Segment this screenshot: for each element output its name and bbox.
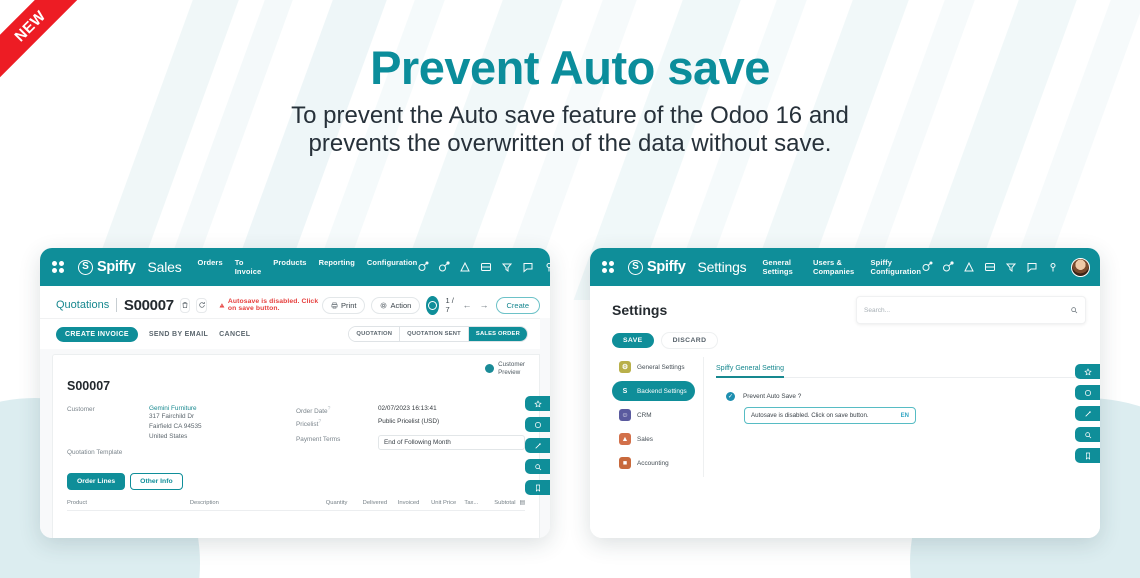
spiffy-mark-icon bbox=[78, 260, 93, 275]
create-invoice-button[interactable]: CREATE INVOICE bbox=[56, 327, 138, 342]
field-payment-terms-label: Payment Terms bbox=[296, 435, 378, 443]
col-unit-price: Unit Price bbox=[431, 500, 464, 506]
brand-name: Spiffy bbox=[97, 259, 135, 275]
autosave-warning-text: Autosave is disabled. Click on save butt… bbox=[228, 298, 322, 312]
rail-star-icon[interactable] bbox=[525, 396, 550, 411]
spiffy-app-icon: S bbox=[619, 385, 631, 397]
menu-item-general-settings[interactable]: General Settings bbox=[762, 258, 800, 276]
odoo-topbar-sales: Spiffy Sales Orders To Invoice Products … bbox=[40, 248, 550, 286]
brand-logo[interactable]: Spiffy bbox=[628, 259, 685, 275]
col-description: Description bbox=[190, 500, 326, 506]
field-quotation-template-label: Quotation Template bbox=[67, 448, 149, 456]
poster-canvas: NEW Prevent Auto save To prevent the Aut… bbox=[0, 0, 1140, 578]
menu-item-orders[interactable]: Orders bbox=[198, 258, 223, 276]
menu-item-products[interactable]: Products bbox=[273, 258, 306, 276]
notebook-tabs: Order Lines Other Info bbox=[67, 473, 525, 490]
right-window-rail bbox=[1075, 364, 1100, 463]
sidebar-label-crm: CRM bbox=[637, 412, 652, 419]
field-order-date: Order Date? 02/07/2023 16:13:41 bbox=[296, 405, 525, 415]
autosave-message-input[interactable]: Autosave is disabled. Click on save butt… bbox=[744, 407, 916, 424]
field-pricelist: Pricelist? Public Pricelist (USD) bbox=[296, 418, 525, 428]
action-label: Action bbox=[390, 301, 411, 310]
loading-spinner-icon[interactable] bbox=[426, 296, 439, 315]
menu-item-spiffy-configuration[interactable]: Spiffy Configuration bbox=[871, 258, 921, 276]
subtitle-line-1: To prevent the Auto save feature of the … bbox=[0, 102, 1140, 130]
breadcrumb-parent[interactable]: Quotations bbox=[56, 299, 109, 311]
rail-magnifier-icon[interactable] bbox=[525, 459, 550, 474]
customer-address-line-3: United States bbox=[149, 432, 202, 442]
spiffy-mark-icon bbox=[628, 260, 643, 275]
bug-icon[interactable] bbox=[417, 261, 429, 273]
language-badge[interactable]: EN bbox=[901, 413, 909, 419]
sales-sheet-wrapper: CREATE INVOICE SEND BY EMAIL CANCEL QUOT… bbox=[40, 318, 550, 538]
prevent-auto-save-option: Prevent Auto Save ? bbox=[726, 392, 1086, 401]
form-column-right: Order Date? 02/07/2023 16:13:41 Pricelis… bbox=[296, 405, 525, 459]
sales-app-icon: ▲ bbox=[619, 433, 631, 445]
field-pricelist-label: Pricelist? bbox=[296, 418, 378, 428]
chat-icon[interactable] bbox=[1026, 261, 1038, 273]
gear-icon bbox=[380, 302, 387, 309]
sidebar-label-sales: Sales bbox=[637, 436, 653, 443]
checked-circle-icon[interactable] bbox=[726, 392, 735, 401]
tab-order-lines[interactable]: Order Lines bbox=[67, 473, 125, 490]
form-grid: Customer Gemini Furniture 317 Fairchild … bbox=[67, 405, 525, 459]
customer-preview-line-2: Preview bbox=[498, 369, 525, 377]
col-subtotal: Subtotal bbox=[494, 500, 515, 506]
field-payment-terms: Payment Terms End of Following Month bbox=[296, 435, 525, 450]
pin-icon[interactable] bbox=[1047, 261, 1059, 273]
topbar-icons bbox=[921, 258, 1090, 277]
breadcrumb-row: Quotations S00007 Autosave is disabled. … bbox=[40, 292, 550, 318]
field-customer-value[interactable]: Gemini Furniture bbox=[149, 405, 202, 412]
menu-item-configuration[interactable]: Configuration bbox=[367, 258, 417, 276]
accounting-app-icon: ■ bbox=[619, 457, 631, 469]
action-button[interactable]: Action bbox=[371, 297, 420, 314]
grid-icon[interactable] bbox=[984, 261, 996, 273]
breadcrumb-divider bbox=[116, 298, 117, 312]
rail-magnifier-icon[interactable] bbox=[1075, 427, 1100, 442]
field-order-date-value[interactable]: 02/07/2023 16:13:41 bbox=[378, 405, 437, 412]
brand-logo[interactable]: Spiffy bbox=[78, 259, 135, 275]
record-sheet: Customer Preview S00007 Customer Gemini … bbox=[52, 354, 540, 538]
stage-quotation[interactable]: QUOTATION bbox=[349, 327, 400, 341]
topbar-menu: General Settings Users & Companies Spiff… bbox=[762, 258, 921, 276]
record-controls: Print Action 1 / 7 ← → Create bbox=[322, 296, 540, 315]
gear-activity-icon[interactable] bbox=[942, 261, 954, 273]
page-subtitle: To prevent the Auto save feature of the … bbox=[0, 102, 1140, 159]
brand-name: Spiffy bbox=[647, 259, 685, 275]
sidebar-item-general-settings[interactable]: ⚙ General Settings bbox=[612, 357, 695, 377]
field-customer: Customer Gemini Furniture 317 Fairchild … bbox=[67, 405, 296, 442]
warning-triangle-icon bbox=[219, 301, 225, 310]
pager-label: 1 / 7 bbox=[445, 296, 455, 314]
sidebar-label-general-settings: General Settings bbox=[637, 364, 685, 371]
sidebar-label-accounting: Accounting bbox=[637, 460, 669, 467]
tab-other-info[interactable]: Other Info bbox=[130, 473, 182, 490]
page-title: Prevent Auto save bbox=[0, 40, 1140, 95]
autosave-warning: Autosave is disabled. Click on save butt… bbox=[219, 298, 322, 312]
app-name-sales: Sales bbox=[147, 259, 181, 275]
sidebar-item-sales[interactable]: ▲ Sales bbox=[612, 429, 695, 449]
arrow-left-icon[interactable]: ← bbox=[462, 300, 473, 310]
upgrade-icon[interactable] bbox=[459, 261, 471, 273]
rail-chat-bubble-icon[interactable] bbox=[1075, 385, 1100, 400]
create-button[interactable]: Create bbox=[496, 297, 541, 314]
chat-icon[interactable] bbox=[522, 261, 534, 273]
autosave-message-value: Autosave is disabled. Click on save butt… bbox=[751, 412, 869, 419]
col-quantity: Quantity bbox=[326, 500, 363, 506]
payment-terms-input[interactable]: End of Following Month bbox=[378, 435, 525, 450]
cancel-button[interactable]: CANCEL bbox=[219, 331, 250, 338]
record-title: S00007 bbox=[67, 379, 525, 393]
settings-body: Settings Search... SAVE DISCARD ⚙ Genera… bbox=[590, 286, 1100, 538]
sidebar-item-accounting[interactable]: ■ Accounting bbox=[612, 453, 695, 473]
menu-item-to-invoice[interactable]: To Invoice bbox=[235, 258, 262, 276]
bug-icon[interactable] bbox=[921, 261, 933, 273]
sidebar-item-crm[interactable]: ☺ CRM bbox=[612, 405, 695, 425]
customer-preview-line-1: Customer bbox=[498, 361, 525, 369]
rail-pencil-icon[interactable] bbox=[1075, 406, 1100, 421]
status-bar: QUOTATION QUOTATION SENT SALES ORDER bbox=[348, 326, 528, 342]
col-product: Product bbox=[67, 500, 190, 506]
sidebar-label-backend-settings: Backend Settings bbox=[637, 388, 687, 395]
customer-preview-icon bbox=[485, 364, 494, 373]
app-name-settings: Settings bbox=[697, 259, 746, 275]
customer-address-line-1: 317 Fairchild Dr bbox=[149, 412, 202, 422]
magnifier-icon[interactable] bbox=[1070, 301, 1078, 319]
field-pricelist-value[interactable]: Public Pricelist (USD) bbox=[378, 418, 439, 425]
rail-pencil-icon[interactable] bbox=[525, 438, 550, 453]
settings-main: ⚙ General Settings S Backend Settings ☺ … bbox=[590, 357, 1100, 477]
section-tab-spiffy-general-setting[interactable]: Spiffy General Setting bbox=[716, 365, 784, 378]
settings-header: Settings Search... bbox=[590, 286, 1100, 330]
subtitle-line-2: prevents the overwritten of the data wit… bbox=[0, 130, 1140, 158]
breadcrumb-current: S00007 bbox=[124, 297, 174, 314]
customer-preview-button[interactable]: Customer Preview bbox=[485, 361, 525, 377]
apps-grid-icon[interactable] bbox=[602, 261, 614, 273]
order-lines-table-header: Product Description Quantity Delivered I… bbox=[67, 500, 525, 511]
pin-icon[interactable] bbox=[543, 261, 550, 273]
apps-grid-icon[interactable] bbox=[52, 261, 64, 273]
col-delivered: Delivered bbox=[363, 500, 398, 506]
left-window-rail bbox=[525, 396, 550, 495]
crm-app-icon: ☺ bbox=[619, 409, 631, 421]
field-order-date-label: Order Date? bbox=[296, 405, 378, 415]
megaphone-icon[interactable] bbox=[501, 261, 513, 273]
settings-content: Spiffy General Setting Prevent Auto Save… bbox=[704, 357, 1100, 477]
rail-chat-bubble-icon[interactable] bbox=[525, 417, 550, 432]
column-options-icon[interactable]: ▤ bbox=[520, 500, 525, 506]
rail-bookmark-icon[interactable] bbox=[525, 480, 550, 495]
search-input[interactable]: Search... bbox=[856, 296, 1086, 324]
stage-sales-order[interactable]: SALES ORDER bbox=[469, 327, 527, 341]
form-column-left: Customer Gemini Furniture 317 Fairchild … bbox=[67, 405, 296, 459]
print-button[interactable]: Print bbox=[322, 297, 365, 314]
col-tax: Tax... bbox=[464, 500, 494, 506]
gear-app-icon: ⚙ bbox=[619, 361, 631, 373]
rail-star-icon[interactable] bbox=[1075, 364, 1100, 379]
field-quotation-template: Quotation Template bbox=[67, 448, 296, 456]
menu-item-reporting[interactable]: Reporting bbox=[319, 258, 355, 276]
odoo-topbar-settings: Spiffy Settings General Settings Users &… bbox=[590, 248, 1100, 286]
field-customer-label: Customer bbox=[67, 405, 149, 413]
upgrade-icon[interactable] bbox=[963, 261, 975, 273]
discard-button[interactable]: DISCARD bbox=[661, 332, 719, 349]
sales-screenshot-window: Spiffy Sales Orders To Invoice Products … bbox=[40, 248, 550, 538]
topbar-icons bbox=[417, 258, 550, 277]
grid-icon[interactable] bbox=[480, 261, 492, 273]
customer-address-line-2: Fairfield CA 94535 bbox=[149, 422, 202, 432]
sidebar-item-backend-settings[interactable]: S Backend Settings bbox=[612, 381, 695, 401]
status-actions-row: CREATE INVOICE SEND BY EMAIL CANCEL QUOT… bbox=[40, 318, 540, 349]
megaphone-icon[interactable] bbox=[1005, 261, 1017, 273]
settings-screenshot-window: Spiffy Settings General Settings Users &… bbox=[590, 248, 1100, 538]
trash-icon[interactable] bbox=[180, 298, 191, 313]
settings-save-row: SAVE DISCARD bbox=[590, 330, 1100, 357]
rail-bookmark-icon[interactable] bbox=[1075, 448, 1100, 463]
gear-activity-icon[interactable] bbox=[438, 261, 450, 273]
reload-icon[interactable] bbox=[196, 298, 207, 313]
avatar[interactable] bbox=[1071, 258, 1090, 277]
prevent-auto-save-label: Prevent Auto Save ? bbox=[743, 393, 801, 400]
menu-item-users-companies[interactable]: Users & Companies bbox=[813, 258, 859, 276]
arrow-right-icon[interactable]: → bbox=[479, 300, 490, 310]
topbar-menu: Orders To Invoice Products Reporting Con… bbox=[198, 258, 418, 276]
printer-icon bbox=[331, 302, 338, 309]
print-label: Print bbox=[341, 301, 356, 310]
search-placeholder: Search... bbox=[864, 307, 890, 314]
settings-page-title: Settings bbox=[612, 302, 667, 318]
col-invoiced: Invoiced bbox=[398, 500, 431, 506]
stage-quotation-sent[interactable]: QUOTATION SENT bbox=[400, 327, 469, 341]
send-by-email-button[interactable]: SEND BY EMAIL bbox=[149, 331, 208, 338]
settings-sidebar: ⚙ General Settings S Backend Settings ☺ … bbox=[612, 357, 704, 477]
save-button[interactable]: SAVE bbox=[612, 333, 654, 348]
